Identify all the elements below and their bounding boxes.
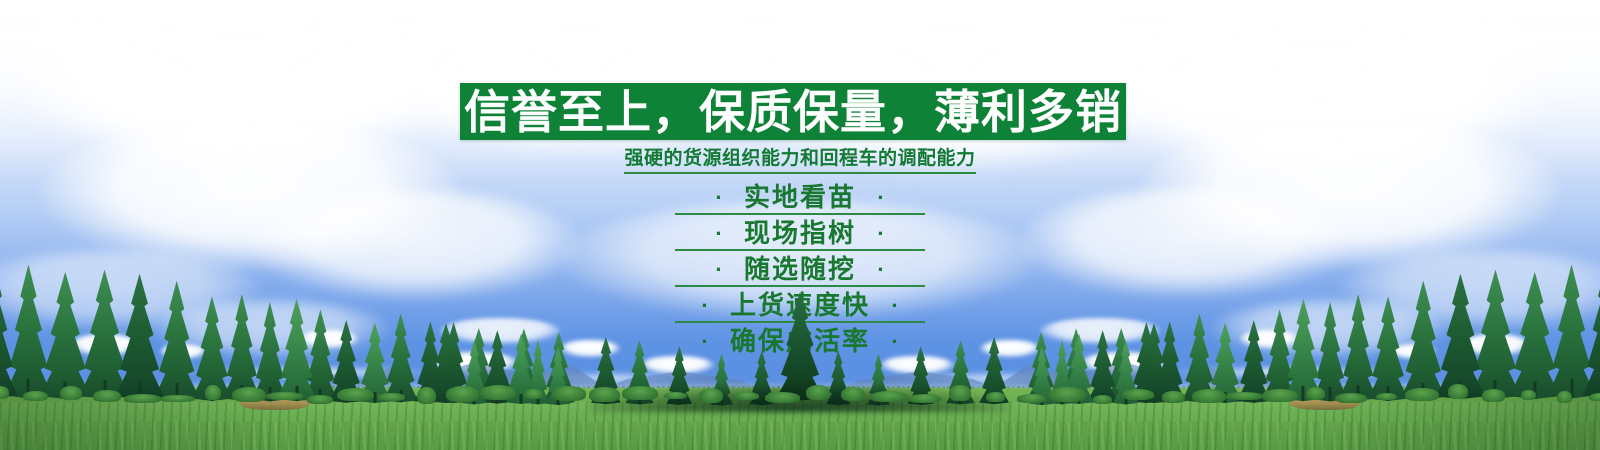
headline-bar: 信誉至上，保质保量，薄利多销 (460, 83, 1126, 140)
feature-divider (675, 285, 925, 287)
subheadline-text: 强硬的货源组织能力和回程车的调配能力 (624, 146, 975, 174)
bullet-dot-icon: · (876, 223, 886, 245)
nursery-promo-banner: 信誉至上，保质保量，薄利多销 强硬的货源组织能力和回程车的调配能力 ·实地看苗·… (0, 0, 1600, 450)
feature-item: ·随选随挖· (0, 252, 1600, 288)
subheadline: 强硬的货源组织能力和回程车的调配能力 (0, 146, 1600, 174)
feature-divider (675, 249, 925, 251)
bullet-dot-icon: · (700, 331, 710, 353)
bullet-dot-icon: · (890, 295, 900, 317)
bullet-dot-icon: · (714, 259, 724, 281)
feature-list: ·实地看苗··现场指树··随选随挖··上货速度快··确保成活率· (0, 180, 1600, 360)
feature-label: 实地看苗 (744, 183, 856, 213)
bullet-dot-icon: · (876, 259, 886, 281)
headline-text: 信誉至上，保质保量，薄利多销 (464, 89, 1122, 135)
bullet-dot-icon: · (890, 331, 900, 353)
feature-divider (675, 321, 925, 323)
feature-label: 现场指树 (744, 219, 856, 249)
feature-label: 上货速度快 (730, 291, 870, 321)
bullet-dot-icon: · (714, 187, 724, 209)
bullet-dot-icon: · (876, 187, 886, 209)
feature-item: ·现场指树· (0, 216, 1600, 252)
feature-label: 确保成活率 (730, 327, 870, 357)
bullet-dot-icon: · (700, 295, 710, 317)
feature-label: 随选随挖 (744, 255, 856, 285)
feature-item: ·实地看苗· (0, 180, 1600, 216)
banner-content: 信誉至上，保质保量，薄利多销 强硬的货源组织能力和回程车的调配能力 ·实地看苗·… (0, 0, 1600, 450)
feature-divider (675, 213, 925, 215)
feature-item: ·上货速度快· (0, 288, 1600, 324)
feature-item: ·确保成活率· (0, 324, 1600, 360)
bullet-dot-icon: · (714, 223, 724, 245)
